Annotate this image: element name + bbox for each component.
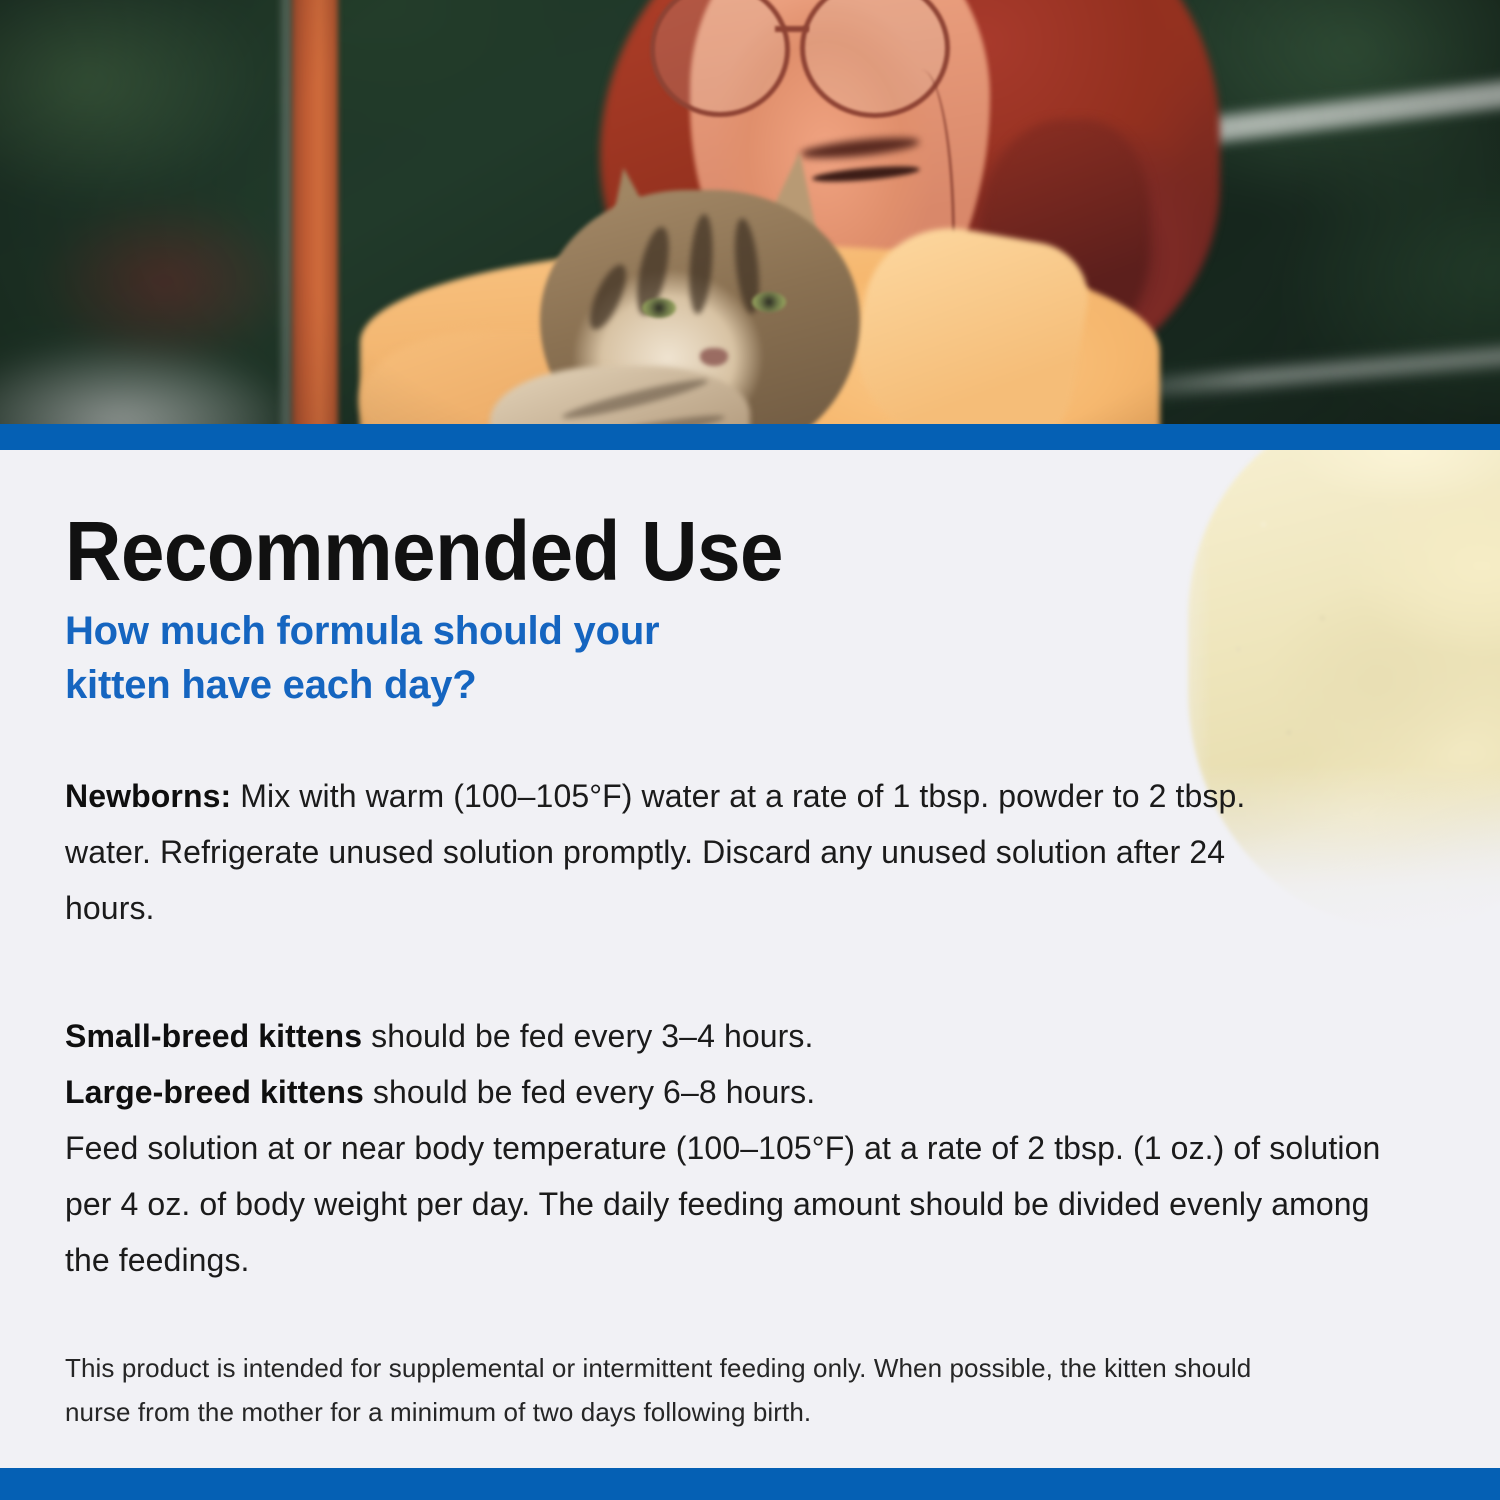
large-breed-line: Large-breed kittens should be fed every … (65, 1064, 1385, 1120)
blue-divider-bottom (0, 1468, 1500, 1500)
footnote-text: This product is intended for supplementa… (65, 1346, 1265, 1434)
small-breed-label: Small-breed kittens (65, 1018, 362, 1054)
small-breed-text: should be fed every 3–4 hours. (362, 1018, 813, 1054)
large-breed-label: Large-breed kittens (65, 1074, 364, 1110)
page-title: Recommended Use (65, 450, 1330, 592)
content-column: Recommended Use How much formula should … (65, 450, 1425, 1434)
newborns-label: Newborns: (65, 778, 231, 814)
feeding-paragraph-block: Small-breed kittens should be fed every … (65, 1008, 1385, 1288)
subtitle-line-1: How much formula should your (65, 609, 659, 653)
newborns-paragraph: Newborns: Mix with warm (100–105°F) wate… (65, 768, 1315, 936)
page-subtitle: How much formula should your kitten have… (65, 604, 865, 712)
footnote-block: This product is intended for supplementa… (65, 1346, 1265, 1434)
feeding-detail-paragraph: Feed solution at or near body temperatur… (65, 1120, 1385, 1288)
hero-photo (0, 0, 1500, 424)
product-infographic-page: Recommended Use How much formula should … (0, 0, 1500, 1500)
subtitle-line-2: kitten have each day? (65, 663, 477, 707)
small-breed-line: Small-breed kittens should be fed every … (65, 1008, 1385, 1064)
hero-vignette (0, 0, 1500, 424)
large-breed-text: should be fed every 6–8 hours. (364, 1074, 815, 1110)
newborns-paragraph-block: Newborns: Mix with warm (100–105°F) wate… (65, 768, 1315, 936)
blue-divider-top (0, 424, 1500, 450)
newborns-text: Mix with warm (100–105°F) water at a rat… (65, 778, 1245, 926)
